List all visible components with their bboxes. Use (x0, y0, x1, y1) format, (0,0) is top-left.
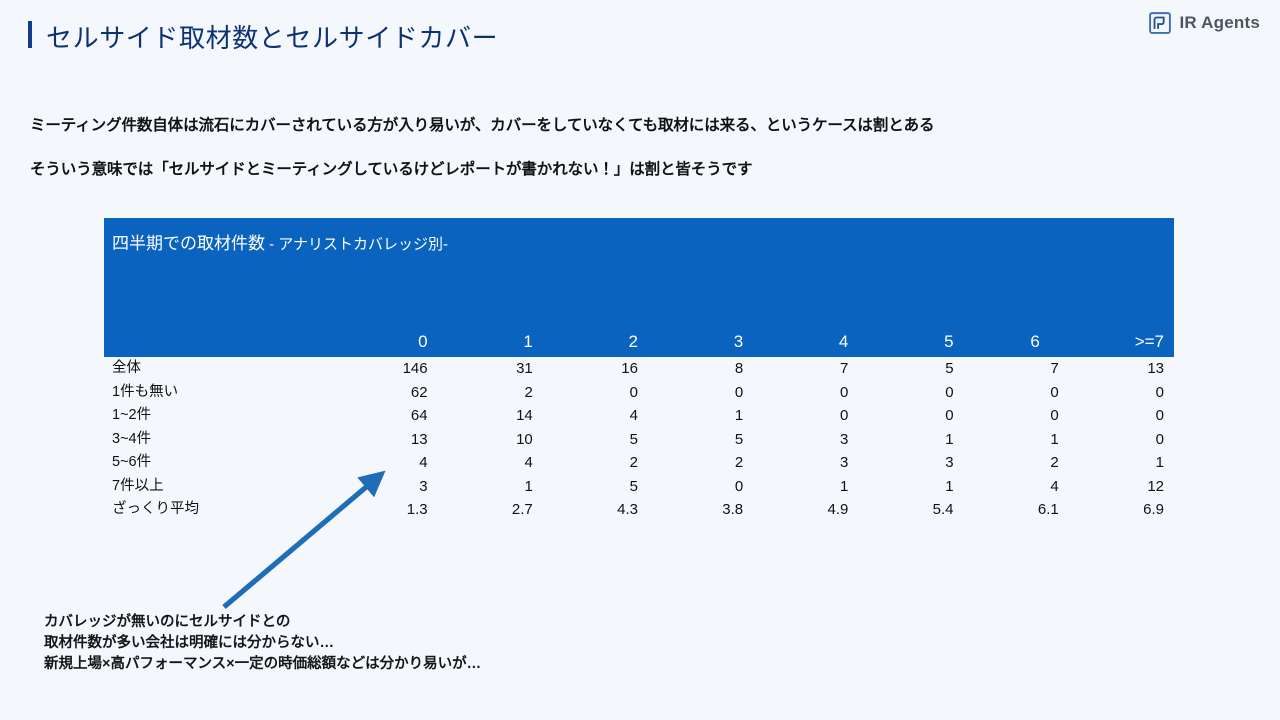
table-cell: 1 (753, 475, 858, 499)
table-cell: 10 (438, 428, 543, 452)
coverage-meeting-table: 四半期での取材件数 - アナリストカバレッジ別- 0 1 2 3 4 5 6 >… (104, 218, 1174, 522)
table-cell: 4 (438, 451, 543, 475)
table-row: 7件以上315011412 (104, 475, 1174, 499)
table-cell: 5 (543, 428, 648, 452)
table-row: 1~2件6414410000 (104, 404, 1174, 428)
table-cell: 0 (858, 381, 963, 405)
table-cell: 0 (753, 381, 858, 405)
row-label: 1~2件 (104, 404, 332, 428)
table-cell: 2.7 (438, 498, 543, 522)
brand-name: IR Agents (1179, 13, 1260, 33)
table-cell: 0 (753, 404, 858, 428)
row-label: 全体 (104, 357, 332, 381)
table-cell: 2 (543, 451, 648, 475)
table-cell: 62 (332, 381, 437, 405)
column-header-1: 1 (438, 321, 543, 357)
row-label: 7件以上 (104, 475, 332, 499)
annotation-text: カバレッジが無いのにセルサイドとの 取材件数が多い会社は明確には分からない… 新… (44, 612, 481, 675)
table-cell: 0 (1069, 381, 1174, 405)
table-cell: 7 (753, 357, 858, 381)
table-title-sub: - アナリストカバレッジ別- (265, 236, 448, 253)
table-cell: 5 (543, 475, 648, 499)
table-row: 3~4件1310553110 (104, 428, 1174, 452)
table-cell: 146 (332, 357, 437, 381)
table-cell: 0 (964, 404, 1069, 428)
column-header-6: 6 (964, 321, 1069, 357)
table-cell: 31 (438, 357, 543, 381)
ir-agents-logo-icon (1149, 12, 1171, 34)
table-row: 1件も無い622000000 (104, 381, 1174, 405)
table-column-header-row: 0 1 2 3 4 5 6 >=7 (104, 321, 1174, 357)
table-cell: 3 (753, 451, 858, 475)
table-cell: 64 (332, 404, 437, 428)
body-text-line-2: そういう意味では「セルサイドとミーティングしているけどレポートが書かれない！」は… (30, 157, 752, 179)
table-cell: 1 (858, 475, 963, 499)
column-header-3: 3 (648, 321, 753, 357)
row-label: 5~6件 (104, 451, 332, 475)
column-header-2: 2 (543, 321, 648, 357)
table-cell: 1.3 (332, 498, 437, 522)
table-cell: 13 (332, 428, 437, 452)
table-cell: 7 (964, 357, 1069, 381)
annotation-line-2: 取材件数が多い会社は明確には分からない… (44, 633, 481, 654)
table-cell: 0 (648, 381, 753, 405)
table-cell: 4.3 (543, 498, 648, 522)
table-title-main: 四半期での取材件数 (112, 234, 265, 253)
table-cell: 2 (964, 451, 1069, 475)
body-text-line-1: ミーティング件数自体は流石にカバーされている方が入り易いが、カバーをしていなくて… (30, 113, 934, 135)
table-cell: 1 (964, 428, 1069, 452)
table-title-row: 四半期での取材件数 - アナリストカバレッジ別- (104, 218, 1174, 321)
table-cell: 6.9 (1069, 498, 1174, 522)
table-cell: 6.1 (964, 498, 1069, 522)
column-header-label (104, 321, 332, 357)
table-cell: 0 (1069, 428, 1174, 452)
table-cell: 4 (332, 451, 437, 475)
row-label: 3~4件 (104, 428, 332, 452)
table-cell: 4.9 (753, 498, 858, 522)
table-cell: 13 (1069, 357, 1174, 381)
table-cell: 3.8 (648, 498, 753, 522)
data-table-block: 四半期での取材件数 - アナリストカバレッジ別- 0 1 2 3 4 5 6 >… (104, 218, 1174, 522)
table-row: ざっくり平均1.32.74.33.84.95.46.16.9 (104, 498, 1174, 522)
table-body: 全体14631168757131件も無い6220000001~2件6414410… (104, 357, 1174, 522)
table-cell: 2 (438, 381, 543, 405)
annotation-line-3: 新規上場×高パフォーマンス×一定の時価総額などは分かり易いが… (44, 654, 481, 675)
table-cell: 4 (964, 475, 1069, 499)
column-header-4: 4 (753, 321, 858, 357)
table-cell: 3 (332, 475, 437, 499)
table-cell: 3 (753, 428, 858, 452)
table-cell: 5 (648, 428, 753, 452)
brand-logo: IR Agents (1149, 12, 1260, 34)
page-title: セルサイド取材数とセルサイドカバー (46, 18, 498, 55)
table-cell: 3 (858, 451, 963, 475)
table-cell: 0 (858, 404, 963, 428)
table-cell: 0 (1069, 404, 1174, 428)
column-header-7: >=7 (1069, 321, 1174, 357)
title-accent-bar (28, 21, 32, 48)
table-cell: 0 (648, 475, 753, 499)
table-cell: 16 (543, 357, 648, 381)
row-label: 1件も無い (104, 381, 332, 405)
table-cell: 0 (543, 381, 648, 405)
column-header-5: 5 (858, 321, 963, 357)
table-cell: 5 (858, 357, 963, 381)
table-title-cell: 四半期での取材件数 - アナリストカバレッジ別- (104, 218, 1174, 321)
slide-header: セルサイド取材数とセルサイドカバー IR Agents (0, 0, 1280, 62)
table-title: 四半期での取材件数 - アナリストカバレッジ別- (112, 229, 1174, 254)
table-cell: 1 (1069, 451, 1174, 475)
table-cell: 8 (648, 357, 753, 381)
table-cell: 1 (648, 404, 753, 428)
table-cell: 4 (543, 404, 648, 428)
table-cell: 1 (858, 428, 963, 452)
table-cell: 12 (1069, 475, 1174, 499)
table-cell: 5.4 (858, 498, 963, 522)
table-row: 全体1463116875713 (104, 357, 1174, 381)
table-cell: 2 (648, 451, 753, 475)
row-label: ざっくり平均 (104, 498, 332, 522)
table-cell: 0 (964, 381, 1069, 405)
table-cell: 1 (438, 475, 543, 499)
table-row: 5~6件44223321 (104, 451, 1174, 475)
annotation-line-1: カバレッジが無いのにセルサイドとの (44, 612, 481, 633)
column-header-0: 0 (332, 321, 437, 357)
table-cell: 14 (438, 404, 543, 428)
